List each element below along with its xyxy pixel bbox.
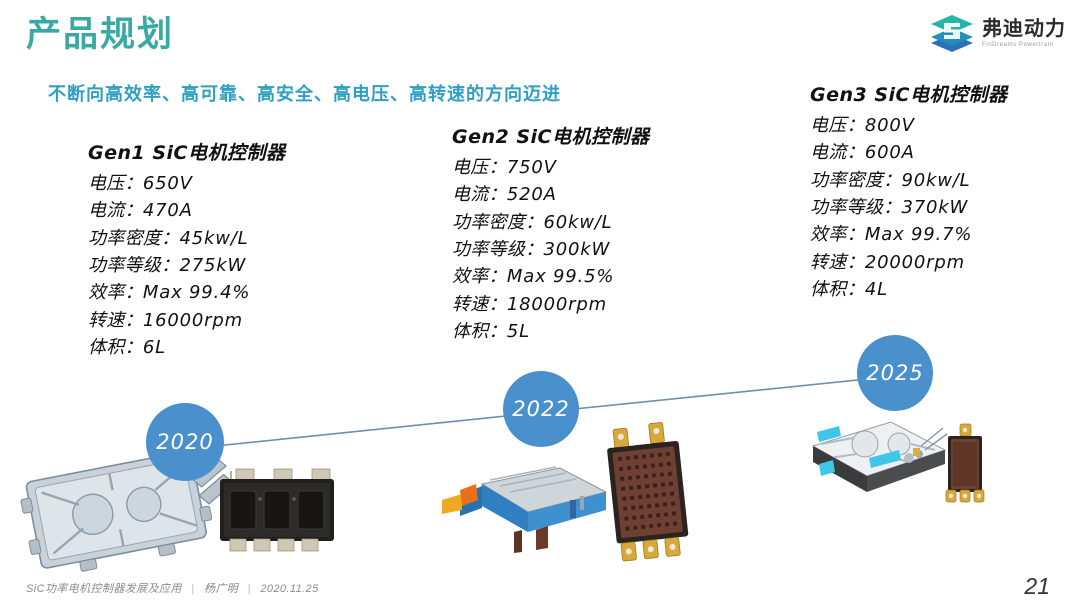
gen3-spec-block: Gen3 SiC电机控制器 电压：800V 电流：600A 功率密度：90kw/… (810, 80, 1007, 304)
footer-date: 2020.11.25 (260, 583, 318, 595)
logo-name-en: FinDreams Powertrain (982, 42, 1066, 48)
gen1-spec-power-level: 功率等级：275kW (88, 252, 285, 279)
logo-text: 弗迪动力 FinDreams Powertrain (982, 19, 1066, 48)
spec-label: 效率： (810, 224, 865, 245)
spec-label: 电流： (810, 142, 865, 163)
spec-value: 20000rpm (865, 252, 965, 273)
spec-value: 90kw/L (902, 170, 971, 191)
timeline-bubble-2020[interactable]: 2020 (146, 403, 224, 481)
spec-label: 转速： (452, 294, 507, 315)
gen3-spec-efficiency: 效率：Max 99.7% (810, 221, 1007, 248)
gen1-spec-efficiency: 效率：Max 99.4% (88, 279, 285, 306)
gen1-spec-block: Gen1 SiC电机控制器 电压：650V 电流：470A 功率密度：45kw/… (88, 138, 285, 362)
footer-divider-1: | (191, 583, 194, 595)
gen3-power-module-image (938, 420, 994, 518)
footer-divider-2: | (248, 583, 251, 595)
footer-caption: SiC功率电机控制器发展及应用 | 杨广明 | 2020.11.25 (26, 580, 319, 596)
gen1-spec-volume: 体积：6L (88, 334, 285, 361)
gen3-spec-power-level: 功率等级：370kW (810, 194, 1007, 221)
spec-label: 电流： (88, 200, 143, 221)
spec-label: 功率等级： (810, 197, 902, 218)
spec-label: 效率： (88, 282, 143, 303)
spec-value: 4L (865, 279, 888, 300)
gen2-spec-block: Gen2 SiC电机控制器 电压：750V 电流：520A 功率密度：60kw/… (452, 122, 649, 346)
spec-label: 电压： (810, 115, 865, 136)
gen2-spec-efficiency: 效率：Max 99.5% (452, 263, 649, 290)
logo-name-cn: 弗迪动力 (982, 19, 1066, 39)
gen2-spec-power-level: 功率等级：300kW (452, 236, 649, 263)
spec-value: 6L (143, 337, 166, 358)
spec-label: 电流： (452, 184, 507, 205)
spec-value: 750V (507, 157, 557, 178)
slide-canvas: 产品规划 不断向高效率、高可靠、高安全、高电压、高转速的方向迈进 弗迪动力 Fi… (0, 0, 1080, 608)
gen2-controller-image (430, 440, 620, 570)
spec-value: Max 99.4% (143, 282, 250, 303)
spec-value: 600A (865, 142, 915, 163)
page-number: 21 (1024, 573, 1050, 600)
gen3-controller-image (795, 410, 955, 520)
spec-label: 转速： (88, 310, 143, 331)
gen1-spec-voltage: 电压：650V (88, 170, 285, 197)
company-logo: 弗迪动力 FinDreams Powertrain (929, 10, 1066, 56)
gen2-spec-current: 电流：520A (452, 181, 649, 208)
spec-value: 275kW (180, 255, 247, 276)
gen2-spec-volume: 体积：5L (452, 318, 649, 345)
gen1-heading: Gen1 SiC电机控制器 (88, 138, 285, 165)
gen3-spec-speed: 转速：20000rpm (810, 249, 1007, 276)
gen2-spec-voltage: 电压：750V (452, 154, 649, 181)
spec-value: 800V (865, 115, 915, 136)
spec-label: 效率： (452, 266, 507, 287)
spec-label: 功率等级： (452, 239, 544, 260)
gen3-spec-current: 电流：600A (810, 139, 1007, 166)
spec-value: Max 99.5% (507, 266, 614, 287)
spec-value: 5L (507, 321, 530, 342)
timeline-bubble-2025[interactable]: 2025 (857, 335, 933, 411)
spec-label: 功率密度： (810, 170, 902, 191)
gen3-spec-volume: 体积：4L (810, 276, 1007, 303)
spec-label: 转速： (810, 252, 865, 273)
gen2-power-module-image (600, 420, 700, 570)
spec-value: 60kw/L (544, 212, 613, 233)
spec-label: 体积： (88, 337, 143, 358)
spec-label: 功率密度： (88, 228, 180, 249)
spec-value: 520A (507, 184, 557, 205)
findreams-logo-icon (929, 13, 975, 53)
footer-doc-title: SiC功率电机控制器发展及应用 (26, 583, 182, 595)
spec-value: 370kW (902, 197, 969, 218)
spec-value: 470A (143, 200, 193, 221)
gen3-heading: Gen3 SiC电机控制器 (810, 80, 1007, 107)
gen2-heading: Gen2 SiC电机控制器 (452, 122, 649, 149)
footer-author: 杨广明 (204, 583, 238, 595)
timeline-bubble-2022[interactable]: 2022 (503, 371, 579, 447)
spec-label: 电压： (88, 173, 143, 194)
spec-value: 650V (143, 173, 193, 194)
spec-label: 电压： (452, 157, 507, 178)
spec-value: 300kW (544, 239, 611, 260)
gen3-spec-voltage: 电压：800V (810, 112, 1007, 139)
gen1-spec-current: 电流：470A (88, 197, 285, 224)
page-title: 产品规划 (26, 14, 174, 56)
spec-value: 18000rpm (507, 294, 607, 315)
spec-value: 45kw/L (180, 228, 249, 249)
spec-value: Max 99.7% (865, 224, 972, 245)
slide-subtitle: 不断向高效率、高可靠、高安全、高电压、高转速的方向迈进 (48, 80, 561, 106)
gen3-spec-power-density: 功率密度：90kw/L (810, 167, 1007, 194)
spec-value: 16000rpm (143, 310, 243, 331)
spec-label: 体积： (810, 279, 865, 300)
gen2-spec-speed: 转速：18000rpm (452, 291, 649, 318)
spec-label: 体积： (452, 321, 507, 342)
spec-label: 功率密度： (452, 212, 544, 233)
gen1-spec-speed: 转速：16000rpm (88, 307, 285, 334)
gen2-spec-power-density: 功率密度：60kw/L (452, 209, 649, 236)
gen1-spec-power-density: 功率密度：45kw/L (88, 225, 285, 252)
spec-label: 功率等级： (88, 255, 180, 276)
gen1-power-module-image (212, 455, 340, 567)
